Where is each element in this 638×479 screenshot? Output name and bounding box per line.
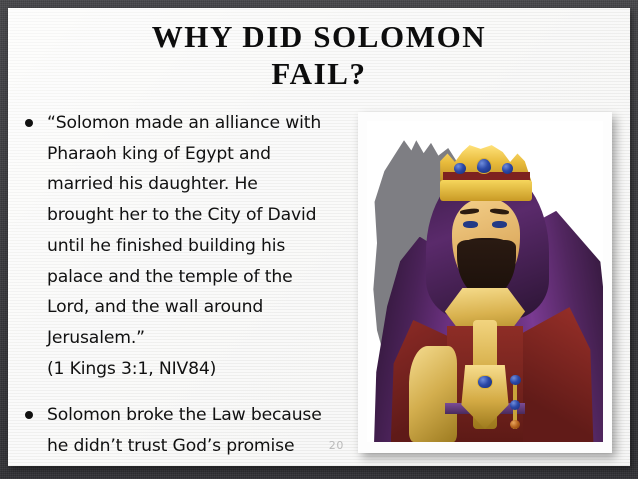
breastplate-gem-icon	[477, 375, 492, 390]
crown-gold-band	[440, 180, 532, 201]
bullet-text-scripture-quote: “Solomon made an alliance with Pharaoh k…	[47, 108, 354, 354]
eye-right	[492, 221, 507, 229]
bullet-dot-icon	[25, 119, 33, 127]
gold-sleeve	[409, 346, 456, 442]
slide-page-number: 20	[329, 439, 344, 452]
bullet-item-scripture-quote: “Solomon made an alliance with Pharaoh k…	[14, 108, 354, 384]
eye-left	[463, 221, 478, 229]
crown-center-gem-icon	[476, 158, 493, 174]
bullet-text-commentary: Solomon broke the Law because he didn’t …	[47, 400, 354, 466]
scripture-citation: (1 Kings 3:1, NIV84)	[47, 354, 354, 385]
presentation-slide: WHY DID SOLOMON FAIL? “Solomon made an a…	[8, 8, 630, 466]
bullet-dot-icon	[25, 411, 33, 419]
bullet-item-commentary: Solomon broke the Law because he didn’t …	[14, 400, 354, 466]
pendant-gem-upper-icon	[510, 375, 521, 386]
king-solomon-illustration	[367, 121, 603, 442]
slide-title: WHY DID SOLOMON FAIL?	[8, 18, 630, 92]
slide-body-content: “Solomon made an alliance with Pharaoh k…	[14, 108, 354, 466]
king-solomon-image-frame	[358, 112, 612, 453]
